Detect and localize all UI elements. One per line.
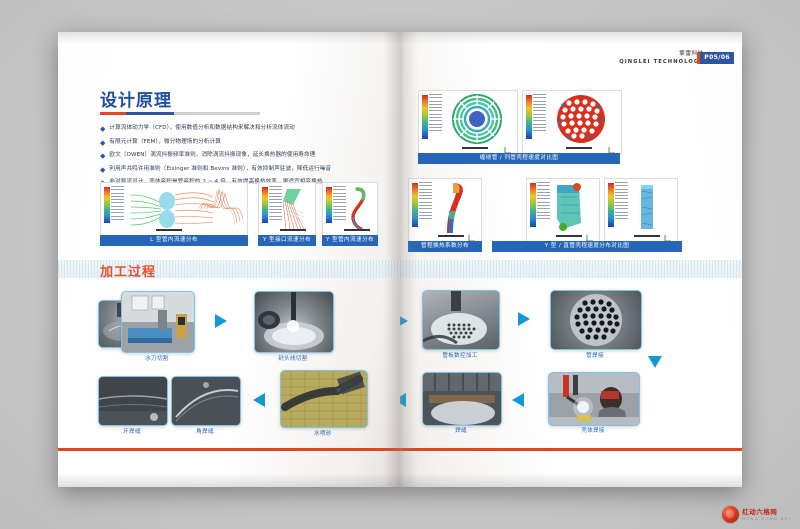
axis-triad-icon bbox=[503, 140, 513, 150]
arrow-left-icon bbox=[512, 393, 524, 407]
process-photo-shell-welding[interactable] bbox=[548, 372, 640, 426]
bullet-diamond-icon: ◆ bbox=[100, 152, 105, 161]
watermark-name-en: HONG DONG NET bbox=[742, 516, 792, 522]
cfd-plot bbox=[523, 91, 621, 153]
list-item-label: 计算流体动力学（CFD），使用数值分析和数据结构来解决和分析流体流动 bbox=[109, 124, 294, 133]
process-caption: 管焊接 bbox=[550, 351, 640, 359]
scale-ruler bbox=[556, 235, 582, 237]
process-band bbox=[400, 260, 742, 278]
page-number-label: P05/06 bbox=[700, 52, 734, 64]
watermark-logo: 红动六格网 HONG DONG NET bbox=[722, 506, 792, 523]
photo-content bbox=[549, 373, 639, 425]
arrow-down-icon bbox=[648, 356, 662, 368]
axis-triad-icon bbox=[663, 228, 673, 238]
flow-streamlines bbox=[259, 183, 315, 235]
cfd-plot bbox=[527, 179, 599, 241]
cfd-figure-y-pipe bbox=[322, 182, 378, 236]
process-photo-sandblast[interactable] bbox=[280, 370, 368, 428]
page-number-badge: P05/06 bbox=[697, 52, 734, 64]
process-title: 加工过程 bbox=[100, 261, 156, 280]
arrow-right-icon bbox=[518, 312, 530, 326]
brand-block: 擎雷科技 QINGLEI TECHNOLOGY bbox=[619, 50, 704, 66]
photo-content bbox=[99, 377, 167, 425]
arrow-right-icon bbox=[215, 314, 227, 328]
figure-caption: Y 型 / 直管壳程速度分布对比图 bbox=[492, 241, 682, 252]
axis-triad-icon bbox=[607, 140, 617, 150]
title-underline bbox=[100, 112, 260, 115]
arrow-right-icon bbox=[400, 314, 408, 328]
photo-content bbox=[281, 371, 367, 427]
process-caption: 封头线切割 bbox=[254, 354, 332, 362]
cfd-plot bbox=[259, 183, 315, 235]
photo-content bbox=[423, 373, 501, 425]
process-photo-tube-welding[interactable] bbox=[550, 290, 642, 350]
scale-ruler bbox=[634, 235, 660, 237]
arrow-left-icon bbox=[253, 393, 265, 407]
cfd-plot bbox=[101, 183, 247, 235]
scale-ruler bbox=[462, 147, 488, 149]
figure-caption: Y 型管内流速分布 bbox=[322, 235, 378, 246]
cfd-plot bbox=[605, 179, 677, 241]
scale-ruler bbox=[344, 229, 370, 231]
list-item-label: 有限元计算（FEM），微分物理场的分析计算 bbox=[109, 138, 221, 147]
scale-ruler bbox=[566, 147, 592, 149]
footer-rule bbox=[400, 448, 742, 451]
process-caption: 水刀切割 bbox=[121, 354, 193, 362]
cfd-plot bbox=[409, 179, 481, 241]
watermark-name-cn: 红动六格网 bbox=[742, 508, 792, 516]
photo-content bbox=[255, 292, 333, 352]
process-photo-head-cutting[interactable] bbox=[254, 291, 334, 353]
brochure-screenshot: 设计原理 ◆ 计算流体动力学（CFD），使用数值分析和数据结构来解决和分析流体流… bbox=[0, 0, 800, 529]
list-item: ◆ 有限元计算（FEM），微分物理场的分析计算 bbox=[100, 138, 368, 147]
process-photo-fillet-weld[interactable] bbox=[171, 376, 241, 426]
process-caption: 水喷砂 bbox=[280, 429, 366, 437]
axis-triad-icon bbox=[585, 228, 595, 238]
list-item: ◆ 欧文（OWEN）涡流抖振频率准则，消除涡流抖振现象，延长换热器的使用寿命理 bbox=[100, 151, 368, 160]
photo-content bbox=[122, 292, 194, 352]
photo-content bbox=[551, 291, 641, 349]
list-item: ◆ 利用声共鸣许用准则（Eisinger 准则和 Bevins 准则），有效抑制… bbox=[100, 165, 368, 174]
bullet-diamond-icon: ◆ bbox=[100, 139, 105, 148]
scale-ruler bbox=[156, 229, 182, 231]
process-photo-weld-seam[interactable] bbox=[422, 372, 502, 426]
figure-caption: L 型管内流速分布 bbox=[100, 235, 248, 246]
brochure-spread: 设计原理 ◆ 计算流体动力学（CFD），使用数值分析和数据结构来解决和分析流体流… bbox=[58, 32, 742, 487]
process-caption: 焊缝 bbox=[422, 426, 500, 434]
footer-rule bbox=[58, 448, 400, 451]
flow-streamlines bbox=[101, 183, 247, 235]
cfd-figure-tube-side-htc bbox=[408, 178, 482, 242]
brand-name-cn: 擎雷科技 bbox=[619, 50, 704, 58]
brand-name-en: QINGLEI TECHNOLOGY bbox=[619, 58, 704, 66]
watermark-mark-icon bbox=[722, 506, 739, 523]
figure-caption: 管程换热系数分布 bbox=[408, 241, 482, 252]
page-title: 设计原理 bbox=[100, 86, 172, 111]
cfd-figure-straight-shell bbox=[604, 178, 678, 242]
photo-content bbox=[423, 291, 499, 349]
scale-ruler bbox=[280, 229, 306, 231]
arrow-left-icon bbox=[400, 393, 406, 407]
bullet-diamond-icon: ◆ bbox=[100, 125, 105, 134]
process-caption: 环焊缝 bbox=[98, 427, 166, 435]
cfd-plot bbox=[419, 91, 517, 153]
cfd-plot bbox=[323, 183, 377, 235]
process-caption: 壳体焊接 bbox=[548, 426, 638, 434]
process-photo-waterjet-machine[interactable] bbox=[121, 291, 195, 353]
watermark-text: 红动六格网 HONG DONG NET bbox=[742, 508, 792, 522]
list-item-label: 利用声共鸣许用准则（Eisinger 准则和 Bevins 准则），有效抑制声驻… bbox=[109, 165, 331, 174]
process-caption: 角焊缝 bbox=[171, 427, 239, 435]
photo-content bbox=[172, 377, 240, 425]
figure-caption: 缠绕管 / 列管壳程速度对比图 bbox=[418, 153, 620, 164]
cfd-figure-coiled-tube bbox=[418, 90, 518, 154]
process-photo-tubesheet-cnc[interactable] bbox=[422, 290, 500, 350]
list-item: ◆ 计算流体动力学（CFD），使用数值分析和数据结构来解决和分析流体流动 bbox=[100, 124, 368, 133]
process-caption: 管板数控加工 bbox=[422, 351, 498, 359]
scale-ruler bbox=[438, 235, 464, 237]
left-page: 设计原理 ◆ 计算流体动力学（CFD），使用数值分析和数据结构来解决和分析流体流… bbox=[58, 32, 400, 487]
cfd-figure-y-shell bbox=[526, 178, 600, 242]
cfd-figure-l-pipe bbox=[100, 182, 248, 236]
cfd-figure-y-joint bbox=[258, 182, 316, 236]
bullet-diamond-icon: ◆ bbox=[100, 166, 105, 175]
process-photo-girth-weld[interactable] bbox=[98, 376, 168, 426]
right-page: 擎雷科技 QINGLEI TECHNOLOGY P05/06 bbox=[400, 32, 742, 487]
figure-caption: Y 型接口流速分布 bbox=[258, 235, 316, 246]
axis-triad-icon bbox=[467, 228, 477, 238]
flow-streamlines bbox=[323, 183, 377, 235]
list-item-label: 欧文（OWEN）涡流抖振频率准则，消除涡流抖振现象，延长换热器的使用寿命理 bbox=[109, 151, 315, 160]
cfd-figure-shell-tube bbox=[522, 90, 622, 154]
